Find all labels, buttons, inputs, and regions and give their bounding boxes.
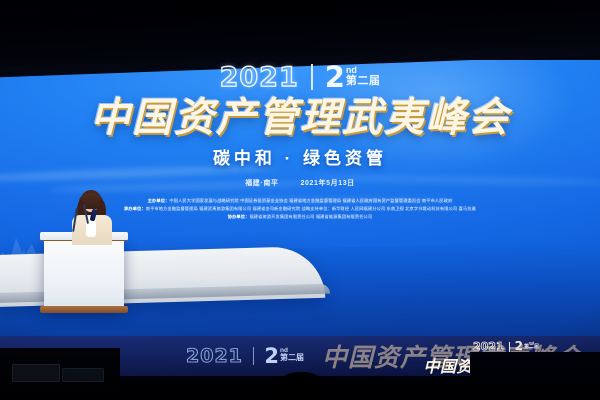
edition-number: 2	[325, 64, 345, 91]
sponsor-text: 福建省旅游开发集团有限责任公司 福建省能源集团有限责任公司	[249, 214, 372, 219]
led-edition-number: 2	[264, 347, 279, 366]
watermark-edition-number: 2	[515, 341, 523, 352]
led-edition-side: nd 第二届	[280, 348, 304, 363]
watermark-divider	[509, 342, 510, 352]
watermark-edition-chinese: 第二届	[524, 345, 539, 350]
event-year-row: 2021 2 nd 第二届	[0, 64, 600, 91]
edition-ordinal-suffix: nd	[346, 66, 357, 75]
watermark-year-row: 2021 2 nd 第二届	[420, 341, 592, 352]
podium-base-trim	[40, 306, 128, 313]
event-sub-title: 碳中和 · 绿色资管	[0, 144, 600, 169]
sponsor-label: 承办单位：	[124, 206, 146, 211]
event-main-title: 中国资产管理武夷峰会	[0, 97, 600, 139]
led-divider	[253, 347, 255, 365]
event-date-row: 福建·南平 2021年5月13日	[0, 178, 600, 188]
foreground-monitor	[12, 364, 60, 382]
sponsor-text: 中国人民大学国家发展与战略研究院 中国证券投资基金业协会 福建省地方金融监督管理…	[169, 198, 452, 203]
edition-chinese: 第二届	[346, 76, 381, 87]
sponsor-label: 协办单位：	[228, 214, 250, 219]
led-year: 2021	[186, 345, 243, 367]
audience-head-silhouette	[278, 372, 324, 400]
speaker-person	[66, 190, 118, 242]
watermark-edition-badge: 2 nd 第二届	[515, 341, 539, 352]
edition-badge: 2 nd 第二届	[325, 64, 381, 91]
led-edition-chinese: 第二届	[280, 354, 304, 362]
event-year: 2021	[220, 64, 299, 91]
foreground-right-shadow	[470, 352, 600, 400]
podium: 中国资产管理武夷峰会 碳中和 · 绿色资管	[44, 238, 124, 310]
watermark-year: 2021	[473, 341, 504, 352]
foreground-monitor-secondary	[62, 368, 104, 382]
led-edition-badge: 2 nd 第二届	[264, 347, 304, 366]
sponsor-label: 主办单位：	[148, 198, 170, 203]
edition-side: nd 第二届	[346, 66, 381, 87]
event-location: 福建·南平	[245, 178, 278, 188]
event-date: 2021年5月13日	[301, 178, 355, 188]
divider-line	[311, 64, 313, 90]
sponsor-text: 南平市地方金融监督管理局 福建武夷旅游集团有限公司 福建省金司新金融研究院 战略…	[146, 206, 476, 211]
stage-photograph: 2021 2 nd 第二届 中国资产管理武夷峰会 碳中和 · 绿色资管 福建·南…	[0, 0, 600, 400]
watermark-edition-side: nd 第二届	[524, 341, 539, 350]
